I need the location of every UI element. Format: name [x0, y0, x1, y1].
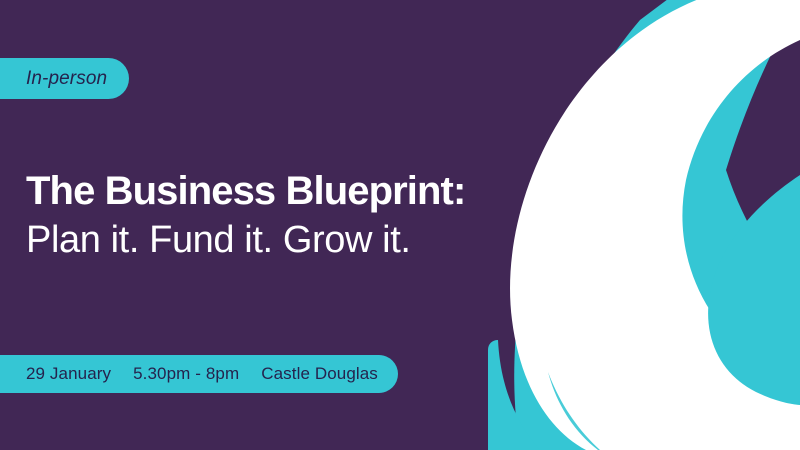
event-location: Castle Douglas [261, 364, 378, 384]
in-person-badge-label: In-person [26, 68, 107, 90]
headline-sub: Plan it. Fund it. Grow it. [26, 218, 465, 263]
event-date: 29 January [26, 364, 111, 384]
in-person-badge: In-person [0, 58, 129, 99]
event-banner: In-person The Business Blueprint: Plan i… [0, 0, 800, 450]
headline-main: The Business Blueprint: [26, 170, 465, 212]
event-details-bar: 29 January 5.30pm - 8pm Castle Douglas [0, 355, 398, 393]
headline-block: The Business Blueprint: Plan it. Fund it… [26, 170, 465, 263]
event-time: 5.30pm - 8pm [133, 364, 239, 384]
